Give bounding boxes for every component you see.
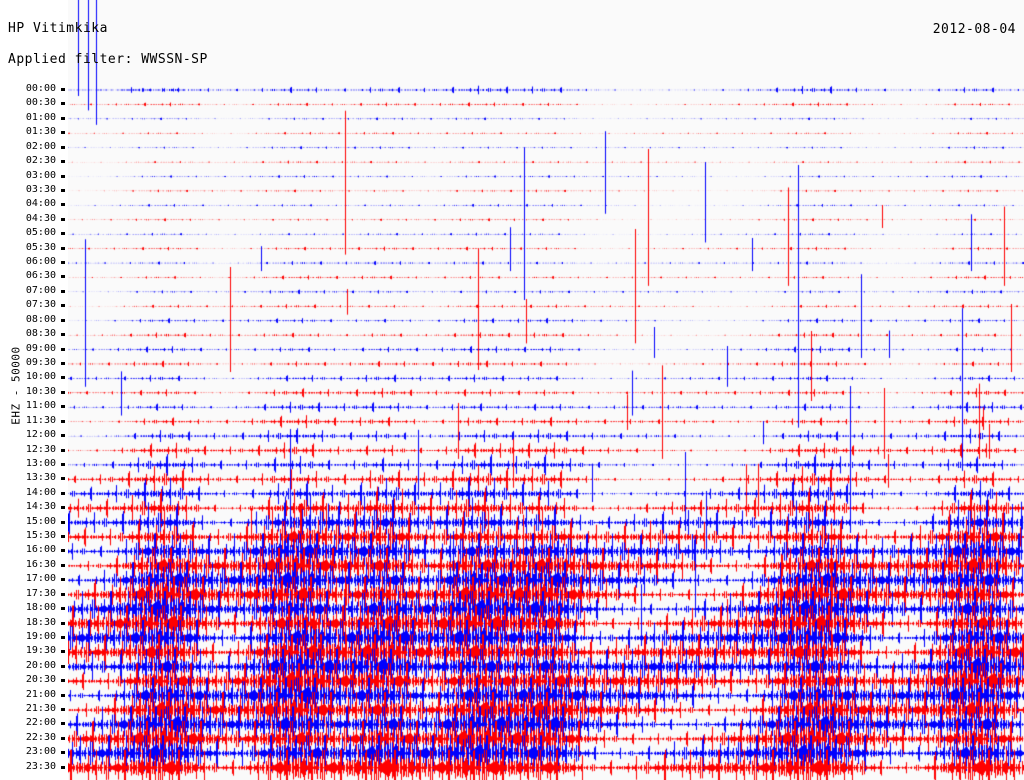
time-tick-label: 02:00 xyxy=(26,142,56,152)
time-tick-row: 23:30 xyxy=(0,762,68,774)
time-tick-label: 07:00 xyxy=(26,286,56,296)
time-tick-mark xyxy=(61,492,65,495)
time-tick-mark xyxy=(61,290,65,293)
seismogram-page: HP Vitimkika 2012-08-04 Applied filter: … xyxy=(0,0,1024,780)
time-tick-mark xyxy=(61,593,65,596)
time-tick-label: 12:30 xyxy=(26,445,56,455)
time-tick-row: 17:30 xyxy=(0,589,68,601)
time-tick-mark xyxy=(61,218,65,221)
time-tick-row: 11:30 xyxy=(0,416,68,428)
time-tick-label: 17:30 xyxy=(26,589,56,599)
time-tick-label: 20:00 xyxy=(26,661,56,671)
time-tick-row: 17:00 xyxy=(0,574,68,586)
time-tick-label: 13:30 xyxy=(26,473,56,483)
time-tick-row: 21:30 xyxy=(0,704,68,716)
time-tick-label: 20:30 xyxy=(26,675,56,685)
time-tick-mark xyxy=(61,679,65,682)
time-tick-mark xyxy=(61,232,65,235)
time-tick-row: 10:30 xyxy=(0,387,68,399)
time-tick-mark xyxy=(61,275,65,278)
time-tick-mark xyxy=(61,434,65,437)
time-tick-row: 00:00 xyxy=(0,84,68,96)
time-tick-mark xyxy=(61,766,65,769)
time-tick-mark xyxy=(61,521,65,524)
time-tick-label: 21:00 xyxy=(26,690,56,700)
helicorder-plot xyxy=(68,0,1024,780)
time-tick-row: 22:30 xyxy=(0,733,68,745)
time-tick-mark xyxy=(61,578,65,581)
time-tick-label: 07:30 xyxy=(26,300,56,310)
time-tick-label: 08:30 xyxy=(26,329,56,339)
time-tick-row: 04:30 xyxy=(0,214,68,226)
time-tick-mark xyxy=(61,189,65,192)
time-tick-row: 00:30 xyxy=(0,98,68,110)
time-tick-label: 15:00 xyxy=(26,517,56,527)
time-tick-row: 21:00 xyxy=(0,690,68,702)
time-tick-label: 11:30 xyxy=(26,416,56,426)
time-tick-row: 05:00 xyxy=(0,228,68,240)
time-tick-mark xyxy=(61,535,65,538)
time-tick-label: 03:30 xyxy=(26,185,56,195)
time-tick-mark xyxy=(61,88,65,91)
time-tick-mark xyxy=(61,607,65,610)
time-tick-label: 05:00 xyxy=(26,228,56,238)
time-tick-row: 05:30 xyxy=(0,243,68,255)
time-tick-mark xyxy=(61,564,65,567)
time-tick-label: 05:30 xyxy=(26,243,56,253)
time-tick-label: 15:30 xyxy=(26,531,56,541)
time-tick-label: 14:30 xyxy=(26,502,56,512)
time-tick-label: 09:30 xyxy=(26,358,56,368)
time-tick-row: 19:00 xyxy=(0,632,68,644)
time-tick-label: 18:00 xyxy=(26,603,56,613)
time-tick-label: 21:30 xyxy=(26,704,56,714)
time-tick-label: 13:00 xyxy=(26,459,56,469)
time-tick-label: 08:00 xyxy=(26,315,56,325)
time-tick-mark xyxy=(61,203,65,206)
time-tick-row: 02:30 xyxy=(0,156,68,168)
time-tick-label: 19:30 xyxy=(26,646,56,656)
time-tick-mark xyxy=(61,737,65,740)
time-tick-label: 18:30 xyxy=(26,618,56,628)
time-tick-mark xyxy=(61,160,65,163)
time-tick-label: 03:00 xyxy=(26,171,56,181)
time-tick-label: 12:00 xyxy=(26,430,56,440)
time-tick-row: 01:00 xyxy=(0,113,68,125)
time-tick-mark xyxy=(61,102,65,105)
time-tick-label: 04:30 xyxy=(26,214,56,224)
time-tick-row: 02:00 xyxy=(0,142,68,154)
time-tick-label: 14:00 xyxy=(26,488,56,498)
time-tick-row: 18:30 xyxy=(0,618,68,630)
time-tick-label: 04:00 xyxy=(26,199,56,209)
time-tick-mark xyxy=(61,391,65,394)
time-tick-label: 01:30 xyxy=(26,127,56,137)
time-tick-row: 19:30 xyxy=(0,646,68,658)
time-tick-mark xyxy=(61,348,65,351)
time-tick-mark xyxy=(61,722,65,725)
time-tick-row: 16:00 xyxy=(0,545,68,557)
time-tick-row: 07:00 xyxy=(0,286,68,298)
time-tick-mark xyxy=(61,117,65,120)
time-tick-mark xyxy=(61,751,65,754)
time-tick-row: 14:00 xyxy=(0,488,68,500)
time-tick-mark xyxy=(61,477,65,480)
time-tick-row: 16:30 xyxy=(0,560,68,572)
time-tick-label: 09:00 xyxy=(26,344,56,354)
time-tick-row: 09:00 xyxy=(0,344,68,356)
time-tick-mark xyxy=(61,333,65,336)
time-tick-label: 00:00 xyxy=(26,84,56,94)
time-tick-row: 12:30 xyxy=(0,445,68,457)
time-tick-row: 08:30 xyxy=(0,329,68,341)
time-tick-row: 20:00 xyxy=(0,661,68,673)
time-tick-row: 23:00 xyxy=(0,747,68,759)
time-tick-mark xyxy=(61,319,65,322)
time-tick-row: 15:00 xyxy=(0,517,68,529)
time-tick-label: 11:00 xyxy=(26,401,56,411)
time-tick-mark xyxy=(61,362,65,365)
time-tick-mark xyxy=(61,694,65,697)
time-tick-mark xyxy=(61,175,65,178)
time-tick-label: 23:30 xyxy=(26,762,56,772)
time-tick-row: 01:30 xyxy=(0,127,68,139)
time-tick-row: 15:30 xyxy=(0,531,68,543)
time-tick-mark xyxy=(61,420,65,423)
time-tick-mark xyxy=(61,131,65,134)
time-tick-row: 09:30 xyxy=(0,358,68,370)
time-tick-label: 22:30 xyxy=(26,733,56,743)
time-tick-row: 08:00 xyxy=(0,315,68,327)
time-tick-mark xyxy=(61,506,65,509)
time-tick-row: 04:00 xyxy=(0,199,68,211)
time-tick-mark xyxy=(61,708,65,711)
time-tick-label: 10:30 xyxy=(26,387,56,397)
record-date: 2012-08-04 xyxy=(933,23,1016,36)
time-tick-mark xyxy=(61,650,65,653)
time-tick-mark xyxy=(61,636,65,639)
time-tick-mark xyxy=(61,405,65,408)
time-tick-label: 10:00 xyxy=(26,372,56,382)
time-tick-mark xyxy=(61,622,65,625)
time-tick-label: 19:00 xyxy=(26,632,56,642)
time-tick-mark xyxy=(61,304,65,307)
time-axis: 00:0000:3001:0001:3002:0002:3003:0003:30… xyxy=(0,0,68,780)
time-tick-row: 06:30 xyxy=(0,271,68,283)
time-tick-row: 03:30 xyxy=(0,185,68,197)
time-tick-label: 06:00 xyxy=(26,257,56,267)
time-tick-label: 00:30 xyxy=(26,98,56,108)
time-tick-row: 14:30 xyxy=(0,502,68,514)
time-tick-mark xyxy=(61,261,65,264)
time-tick-row: 20:30 xyxy=(0,675,68,687)
time-tick-row: 12:00 xyxy=(0,430,68,442)
time-tick-label: 01:00 xyxy=(26,113,56,123)
time-tick-mark xyxy=(61,247,65,250)
time-tick-row: 13:00 xyxy=(0,459,68,471)
time-tick-label: 16:30 xyxy=(26,560,56,570)
time-tick-row: 18:00 xyxy=(0,603,68,615)
time-tick-label: 06:30 xyxy=(26,271,56,281)
time-tick-mark xyxy=(61,376,65,379)
time-tick-mark xyxy=(61,146,65,149)
time-tick-label: 23:00 xyxy=(26,747,56,757)
time-tick-mark xyxy=(61,463,65,466)
seismic-trace-canvas xyxy=(68,0,1024,780)
time-tick-row: 06:00 xyxy=(0,257,68,269)
time-tick-row: 11:00 xyxy=(0,401,68,413)
time-tick-row: 07:30 xyxy=(0,300,68,312)
time-tick-label: 17:00 xyxy=(26,574,56,584)
time-tick-mark xyxy=(61,449,65,452)
time-tick-mark xyxy=(61,549,65,552)
time-tick-label: 02:30 xyxy=(26,156,56,166)
time-tick-row: 22:00 xyxy=(0,718,68,730)
time-tick-row: 13:30 xyxy=(0,473,68,485)
time-tick-row: 03:00 xyxy=(0,171,68,183)
time-tick-mark xyxy=(61,665,65,668)
time-tick-label: 22:00 xyxy=(26,718,56,728)
time-tick-label: 16:00 xyxy=(26,545,56,555)
time-tick-row: 10:00 xyxy=(0,372,68,384)
